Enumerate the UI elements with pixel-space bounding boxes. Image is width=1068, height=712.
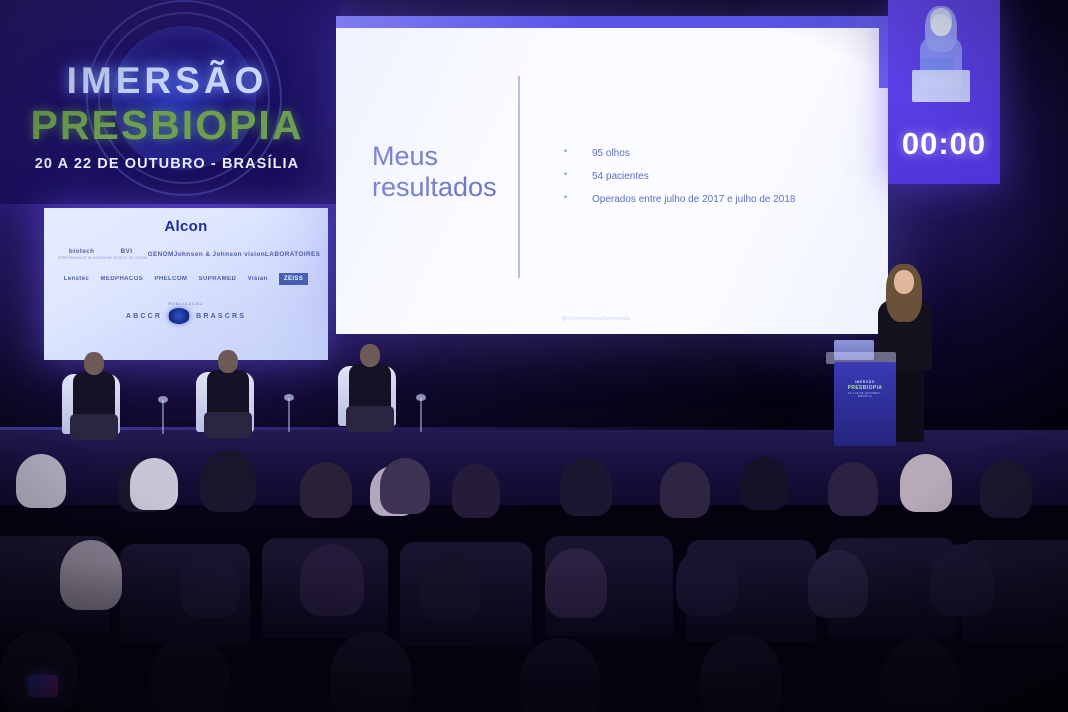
event-logo-banner: IMERSÃO PRESBIOPIA 20 A 22 DE OUTUBRO - … bbox=[0, 0, 340, 204]
realization-orgs: ABCCR BRASCRS bbox=[54, 308, 318, 324]
podium-logo-line2: PRESBIOPIA bbox=[844, 385, 886, 391]
event-date-location: 20 A 22 DE OUTUBRO - BRASÍLIA bbox=[0, 156, 340, 172]
event-logo-line2: PRESBIOPIA bbox=[0, 102, 340, 149]
projection-screen: Meus resultados 95 olhos 54 pacientes Op… bbox=[336, 16, 888, 334]
audience-head bbox=[900, 454, 952, 512]
headline-sponsor-label: Alcon bbox=[54, 218, 318, 235]
podium-logo: IMERSÃO PRESBIOPIA 20 A 22 DE OUTUBRO - … bbox=[844, 380, 886, 398]
org-abccr-label: ABCCR bbox=[126, 313, 162, 320]
sponsor-logo: BVITHE WORLD OF VISION bbox=[105, 248, 147, 260]
sponsor-name: BVI bbox=[121, 248, 133, 255]
audience-head bbox=[200, 450, 256, 512]
sponsor-name: Johnson & Johnson vision bbox=[174, 251, 265, 258]
speaker-face bbox=[931, 14, 951, 36]
lectern-shape bbox=[912, 70, 970, 102]
slide-bullet-list: 95 olhos 54 pacientes Operados entre jul… bbox=[558, 142, 848, 212]
audience-head bbox=[130, 458, 178, 510]
sponsor-logo: GENOM bbox=[148, 251, 174, 258]
audience-head bbox=[16, 454, 66, 508]
audience-head bbox=[980, 460, 1032, 518]
sponsor-logo: MEDPHACOS bbox=[101, 276, 144, 282]
audience-head bbox=[560, 458, 612, 516]
panelist-torso bbox=[349, 364, 391, 412]
event-logo-line1: IMERSÃO bbox=[0, 60, 340, 102]
sponsor-name: MEDPHACOS bbox=[101, 276, 144, 282]
panelist-head bbox=[218, 350, 238, 373]
right-led-panel-live-feed: 00:00 bbox=[888, 0, 1000, 184]
sponsor-name: Lenstec bbox=[64, 276, 89, 282]
audience-head bbox=[300, 462, 352, 518]
sponsor-name: biotech bbox=[69, 248, 95, 255]
panelist-head bbox=[84, 352, 104, 375]
panelist-legs bbox=[70, 414, 118, 440]
org-brascrs-label: BRASCRS bbox=[196, 313, 246, 320]
sponsor-row-1: biotechPERFORMANCE IN VISION BVITHE WORL… bbox=[54, 248, 318, 260]
microphone-stand-2 bbox=[288, 398, 290, 432]
countdown-timer-display: 00:00 bbox=[888, 126, 1000, 162]
eye-logo-icon bbox=[168, 308, 190, 324]
sponsor-tagline: PERFORMANCE IN VISION bbox=[58, 256, 105, 260]
audience-head bbox=[660, 462, 710, 518]
microphone-stand-3 bbox=[420, 398, 422, 432]
sponsor-name: Visian bbox=[248, 276, 268, 282]
sponsor-logo: LABORATOIRES bbox=[265, 251, 320, 258]
branded-podium: IMERSÃO PRESBIOPIA 20 A 22 DE OUTUBRO - … bbox=[834, 362, 896, 446]
audience-head bbox=[828, 462, 878, 516]
sponsor-logo: ZEISS bbox=[279, 273, 308, 285]
sponsor-name: PHELCOM bbox=[154, 276, 187, 282]
podium-area: IMERSÃO PRESBIOPIA 20 A 22 DE OUTUBRO - … bbox=[828, 262, 978, 447]
sponsor-logo: SUPRAMED bbox=[199, 276, 237, 282]
panelist-legs bbox=[346, 406, 394, 432]
podium-logo-line3: 20 A 22 DE OUTUBRO - BRASÍLIA bbox=[844, 392, 886, 398]
panelist-legs bbox=[204, 412, 252, 438]
slide-social-handle: @rachelgomesoftalmologia bbox=[562, 316, 630, 322]
panelist-head bbox=[360, 344, 380, 367]
realization-label: REALIZAÇÃO bbox=[54, 301, 318, 306]
sponsor-name: SUPRAMED bbox=[199, 276, 237, 282]
sponsor-logo: Lenstec bbox=[64, 276, 89, 282]
sponsor-name: LABORATOIRES bbox=[265, 251, 320, 258]
list-item: Operados entre julho de 2017 e julho de … bbox=[558, 188, 848, 211]
sponsor-row-2: Lenstec MEDPHACOS PHELCOM SUPRAMED Visia… bbox=[54, 273, 318, 285]
sponsor-name: GENOM bbox=[148, 251, 174, 258]
audience-head bbox=[740, 456, 788, 510]
slide-top-accent-bar bbox=[336, 16, 888, 28]
sponsor-logo: Visian bbox=[248, 276, 268, 282]
sponsor-logo: biotechPERFORMANCE IN VISION bbox=[58, 248, 105, 260]
slide-title: Meus resultados bbox=[372, 141, 522, 204]
sponsor-tagline: THE WORLD OF VISION bbox=[105, 256, 147, 260]
presenter-head bbox=[894, 270, 914, 294]
sponsor-name: ZEISS bbox=[284, 276, 303, 282]
microphone-stand-1 bbox=[162, 400, 164, 434]
podium-logo-line1: IMERSÃO bbox=[844, 380, 886, 384]
list-item: 95 olhos bbox=[558, 142, 848, 165]
audience-head bbox=[380, 458, 430, 514]
audience-depth-fade bbox=[0, 562, 1068, 712]
audience-seating bbox=[0, 440, 1068, 712]
panelist-torso bbox=[73, 372, 115, 420]
slide-right-accent-bar bbox=[879, 28, 888, 88]
sponsor-logo: PHELCOM bbox=[154, 276, 187, 282]
sponsor-logo: Johnson & Johnson vision bbox=[174, 251, 265, 258]
audience-head bbox=[452, 464, 500, 518]
panelist-torso bbox=[207, 370, 249, 418]
conference-stage-scene: 00 IMERSÃO PRESBIOPIA 20 A 22 DE OUTUBRO… bbox=[0, 0, 1068, 712]
live-camera-speaker-figure bbox=[908, 8, 974, 114]
list-item: 54 pacientes bbox=[558, 165, 848, 188]
sponsor-board: Alcon biotechPERFORMANCE IN VISION BVITH… bbox=[44, 208, 328, 360]
